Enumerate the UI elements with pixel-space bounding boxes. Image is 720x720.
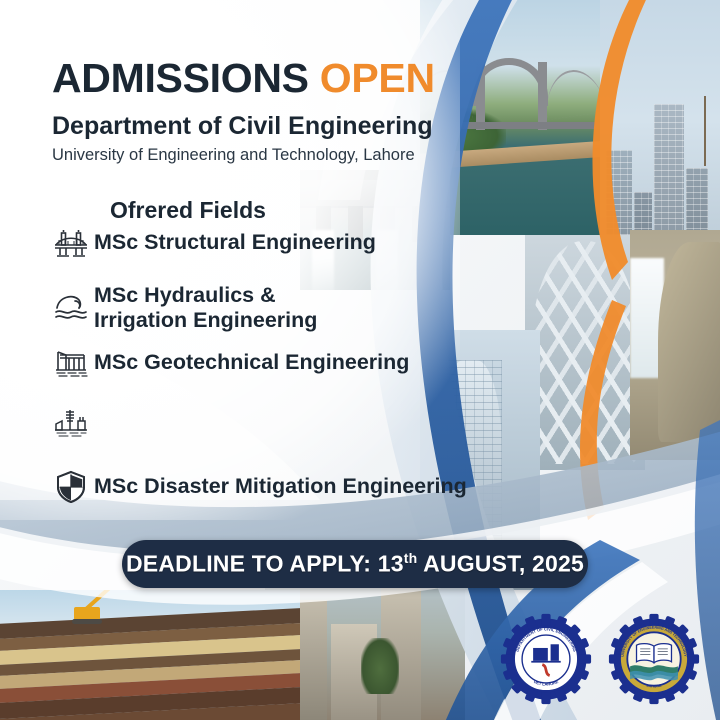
university-name: University of Engineering and Technology… xyxy=(52,146,415,165)
admissions-poster: ADMISSIONS OPEN Department of Civil Engi… xyxy=(0,0,720,720)
industrial-plant-icon xyxy=(48,408,94,438)
foundation-icon xyxy=(48,348,94,378)
department-name: Department of Civil Engineering xyxy=(52,112,433,141)
field-item-geotechnical[interactable]: MSc Geotechnical Engineering xyxy=(48,348,409,378)
deadline-suffix: AUGUST, 2025 xyxy=(417,551,584,577)
wave-icon xyxy=(48,293,94,323)
field-item-hydraulics[interactable]: MSc Hydraulics & Irrigation Engineering xyxy=(48,283,317,334)
shield-icon xyxy=(48,470,94,504)
field-label: MSc Hydraulics & Irrigation Engineering xyxy=(94,283,317,334)
field-item-disaster-mitigation[interactable]: MSc Disaster Mitigation Engineering xyxy=(48,470,467,504)
university-logo-text: UNIVERSITY OF ENGINEERING AND TECHNOLOGY xyxy=(608,705,609,706)
page-title: ADMISSIONS OPEN xyxy=(52,55,435,102)
poster-content: ADMISSIONS OPEN Department of Civil Engi… xyxy=(0,0,720,720)
headline-open: OPEN xyxy=(320,55,435,101)
deadline-ordinal: th xyxy=(404,550,418,566)
bridge-icon xyxy=(48,228,94,258)
department-logo: DEPARTMENT OF CIVIL ENGINEERING UET LAHO… xyxy=(500,613,592,705)
department-logo-text: DEPARTMENT OF CIVIL ENGINEERING xyxy=(500,705,501,706)
deadline-prefix: DEADLINE TO APPLY: 13 xyxy=(126,551,404,577)
headline-admissions: ADMISSIONS xyxy=(52,55,309,101)
field-label: MSc Geotechnical Engineering xyxy=(94,350,409,375)
university-logo: UNIVERSITY OF ENGINEERING AND TECHNOLOGY… xyxy=(608,613,700,705)
deadline-text: DEADLINE TO APPLY: 13th AUGUST, 2025 xyxy=(126,550,584,578)
field-label: MSc Structural Engineering xyxy=(94,230,376,255)
deadline-banner[interactable]: DEADLINE TO APPLY: 13th AUGUST, 2025 xyxy=(122,540,588,588)
offered-fields-heading: Ofrered Fields xyxy=(110,197,266,224)
field-item-structural[interactable]: MSc Structural Engineering xyxy=(48,228,376,258)
field-item-industrial[interactable] xyxy=(48,408,94,438)
field-label: MSc Disaster Mitigation Engineering xyxy=(94,474,467,499)
